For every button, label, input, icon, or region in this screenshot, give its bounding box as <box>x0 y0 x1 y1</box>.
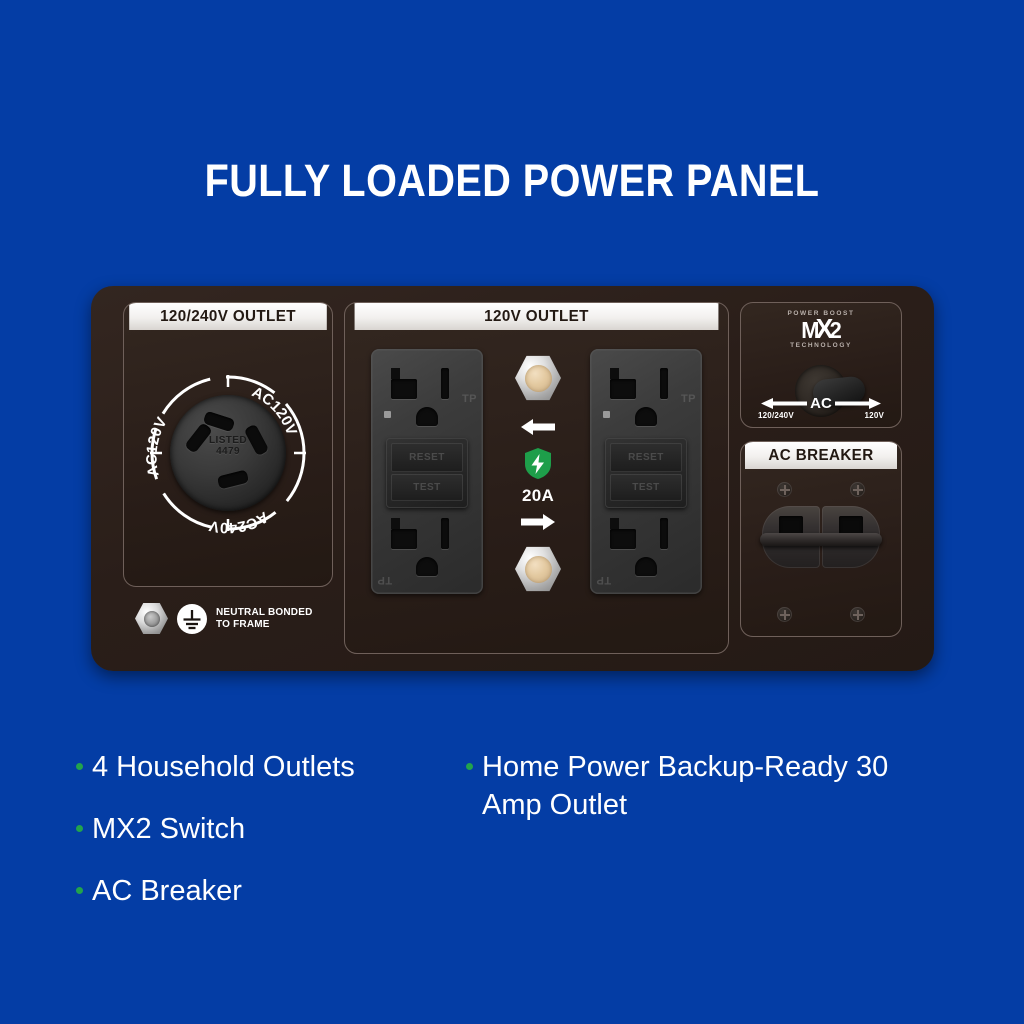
bullet-dot-icon <box>466 763 473 770</box>
section-ac-breaker-header: AC BREAKER <box>745 442 897 469</box>
hex-bolt-icon[interactable] <box>135 602 168 635</box>
section-ac-breaker: AC BREAKER <box>740 441 902 637</box>
twist-lock-outlet[interactable]: AC120V AC120V AC240V LISTED 4479 <box>144 369 312 537</box>
mx2-logo-main: MX2 <box>745 317 897 342</box>
gfci-indicator-led <box>603 411 610 418</box>
tp-mark-top: TP <box>681 393 696 405</box>
section-mx2-switch: POWER BOOST MX2 TECHNOLOGY AC 120/240V 1… <box>740 302 902 428</box>
hex-reset-button-bottom[interactable] <box>515 546 561 592</box>
twist-lock-face: LISTED 4479 <box>170 395 286 511</box>
tp-mark-top: TP <box>462 393 477 405</box>
arrow-left-icon <box>519 417 557 437</box>
shield-bolt-icon <box>523 447 553 480</box>
feature-list-left: 4 Household Outlets MX2 Switch AC Breake… <box>76 748 466 910</box>
breaker-tie-bar[interactable] <box>760 533 882 546</box>
breaker-switch-group <box>762 506 880 568</box>
mx2-logo: POWER BOOST MX2 TECHNOLOGY <box>741 310 901 349</box>
mx2-mode-right-label: 120V <box>865 411 884 420</box>
svg-text:AC240V: AC240V <box>208 508 272 536</box>
list-item: MX2 Switch <box>76 810 466 848</box>
bullet-dot-icon <box>76 887 83 894</box>
screw-bottom-left <box>777 607 792 622</box>
mode-arrow-left-icon <box>760 397 808 410</box>
neutral-bond-label: NEUTRAL BONDED TO FRAME <box>216 607 313 630</box>
gfci-test-button[interactable]: TEST <box>391 474 463 501</box>
neutral-bond-row: NEUTRAL BONDED TO FRAME <box>135 602 313 635</box>
amp-rating-label: 20A <box>522 486 554 506</box>
feature-label: AC Breaker <box>92 872 242 910</box>
feature-list: 4 Household Outlets MX2 Switch AC Breake… <box>76 748 976 910</box>
arrow-right-icon <box>519 512 557 532</box>
tp-mark-bottom: TP <box>596 574 611 586</box>
screw-top-right <box>850 482 865 497</box>
list-item: Home Power Backup-Ready 30 Amp Outlet <box>466 748 946 824</box>
page-title: FULLY LOADED POWER PANEL <box>61 155 962 207</box>
gfci-buttons-left[interactable]: RESET TEST <box>386 438 468 508</box>
section-120v-outlet: 120V OUTLET TP RESET TEST TP <box>344 302 729 654</box>
bullet-dot-icon <box>76 825 83 832</box>
feature-label: Home Power Backup-Ready 30 Amp Outlet <box>482 748 946 824</box>
feature-list-right: Home Power Backup-Ready 30 Amp Outlet <box>466 748 946 910</box>
hex-reset-button-top[interactable] <box>515 355 561 401</box>
mx2-mode-left-label: 120/240V <box>758 411 794 420</box>
gfci-buttons-right[interactable]: RESET TEST <box>605 438 687 508</box>
feature-label: MX2 Switch <box>92 810 245 848</box>
svg-text:AC120V: AC120V <box>144 415 171 478</box>
listed-number: 4479 <box>170 446 286 457</box>
bullet-dot-icon <box>76 763 83 770</box>
mx2-ac-label: AC <box>810 395 832 412</box>
listed-label: LISTED <box>170 435 286 446</box>
list-item: AC Breaker <box>76 872 466 910</box>
section-120v-header: 120V OUTLET <box>355 303 719 330</box>
gfci-test-button[interactable]: TEST <box>610 474 682 501</box>
screw-top-left <box>777 482 792 497</box>
feature-label: 4 Household Outlets <box>92 748 355 786</box>
gfci-reset-button[interactable]: RESET <box>610 443 682 472</box>
mode-arrow-right-icon <box>834 397 882 410</box>
center-control-column: 20A <box>508 355 568 592</box>
screw-bottom-right <box>850 607 865 622</box>
gfci-reset-button[interactable]: RESET <box>391 443 463 472</box>
list-item: 4 Household Outlets <box>76 748 466 786</box>
section-120-240v-header: 120/240V OUTLET <box>129 303 327 330</box>
gfci-indicator-led <box>384 411 391 418</box>
ground-symbol-icon <box>177 604 207 634</box>
tp-mark-bottom: TP <box>377 574 392 586</box>
power-panel: 120/240V OUTLET AC120V AC120V <box>91 286 934 671</box>
mx2-mode-indicator: AC 120/240V 120V <box>741 395 901 420</box>
gfci-outlet-right[interactable]: TP RESET TEST TP <box>590 349 702 594</box>
section-120-240v-outlet: 120/240V OUTLET AC120V AC120V <box>123 302 333 587</box>
gfci-outlet-left[interactable]: TP RESET TEST TP <box>371 349 483 594</box>
